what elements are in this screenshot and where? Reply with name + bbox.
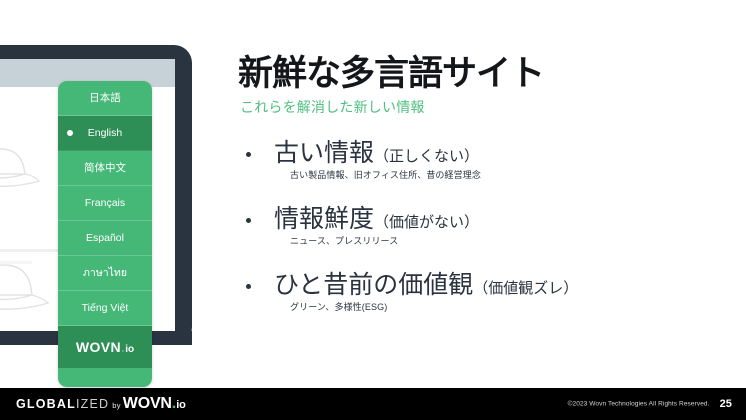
language-option-label: 日本語 [89, 92, 121, 104]
bullet-subtext: ニュース、プレスリリース [290, 234, 738, 247]
language-option-french[interactable]: Français [58, 186, 152, 221]
device-mockup: 日本語 English 简体中文 Français Español ภาษาไท… [0, 45, 208, 355]
footer-logo-io: io [176, 399, 185, 411]
language-option-spanish[interactable]: Español [58, 221, 152, 256]
illustration-rule [0, 249, 64, 252]
bullet-subtext: グリーン、多様性(ESG) [290, 300, 738, 313]
list-item: ひと昔前の価値観（価値観ズレ） グリーン、多様性(ESG) [238, 271, 738, 313]
illustration-rule [0, 261, 32, 264]
footer-right: ©2023 Wovn Technologies All Rights Reser… [568, 398, 732, 410]
footer-logo-ized: IZED [76, 397, 109, 411]
slide-content: 新鮮な多言語サイト これらを解消した新しい情報 古い情報（正しくない） 古い製品… [238, 55, 738, 337]
language-option-japanese[interactable]: 日本語 [58, 81, 152, 116]
bullet-heading-text: ひと昔前の価値観 [274, 271, 473, 299]
language-switcher-widget[interactable]: 日本語 English 简体中文 Français Español ภาษาไท… [58, 81, 152, 387]
language-option-simplified-chinese[interactable]: 简体中文 [58, 151, 152, 186]
footer-logo: GLOBALIZEDbyWOVN.io [16, 395, 186, 413]
list-item: 古い情報（正しくない） 古い製品情報、旧オフィス住所、昔の経営理念 [238, 139, 738, 181]
bullet-list: 古い情報（正しくない） 古い製品情報、旧オフィス住所、昔の経営理念 情報鮮度（価… [238, 139, 738, 313]
language-option-label: English [88, 127, 122, 139]
bullet-dot-icon [246, 218, 251, 223]
page-subtitle: これらを解消した新しい情報 [240, 97, 738, 117]
footer-logo-by: by [112, 401, 121, 410]
widget-brand-name: WOVN [76, 339, 121, 355]
footer-logo-global: GLOBAL [16, 397, 76, 411]
bullet-heading-text: 古い情報 [274, 139, 374, 167]
language-option-label: 简体中文 [84, 162, 126, 174]
bullet-subtext: 古い製品情報、旧オフィス住所、昔の経営理念 [290, 168, 738, 181]
bullet-heading: 情報鮮度（価値がない） [274, 205, 738, 233]
slide-canvas: 日本語 English 简体中文 Français Español ภาษาไท… [0, 0, 746, 420]
bullet-heading-note: （価値観ズレ） [473, 280, 578, 297]
page-title: 新鮮な多言語サイト [238, 55, 738, 93]
widget-brand-suffix: io [125, 344, 134, 355]
slide-footer: GLOBALIZEDbyWOVN.io ©2023 Wovn Technolog… [0, 388, 746, 420]
bullet-heading: 古い情報（正しくない） [274, 139, 738, 167]
bullet-heading-note: （正しくない） [374, 148, 479, 165]
language-option-english[interactable]: English [58, 116, 152, 151]
bullet-heading-note: （価値がない） [374, 214, 479, 231]
bullet-dot-icon [246, 284, 251, 289]
list-item: 情報鮮度（価値がない） ニュース、プレスリリース [238, 205, 738, 247]
language-option-thai[interactable]: ภาษาไทย [58, 256, 152, 291]
bullet-heading-text: 情報鮮度 [274, 205, 374, 233]
copyright-text: ©2023 Wovn Technologies All Rights Reser… [568, 401, 710, 408]
bullet-dot-icon [246, 152, 251, 157]
selected-dot-icon [67, 130, 73, 136]
footer-logo-wovn: WOVN [123, 395, 172, 412]
language-option-vietnamese[interactable]: Tiếng Việt [58, 291, 152, 326]
language-option-label: ภาษาไทย [83, 267, 127, 279]
language-option-label: Español [86, 232, 124, 244]
bullet-heading: ひと昔前の価値観（価値観ズレ） [274, 271, 738, 299]
widget-brand-wovn-io: WOVN.io [58, 326, 152, 368]
language-option-label: Tiếng Việt [82, 302, 129, 314]
language-option-label: Français [85, 197, 125, 209]
page-number: 25 [720, 398, 732, 410]
